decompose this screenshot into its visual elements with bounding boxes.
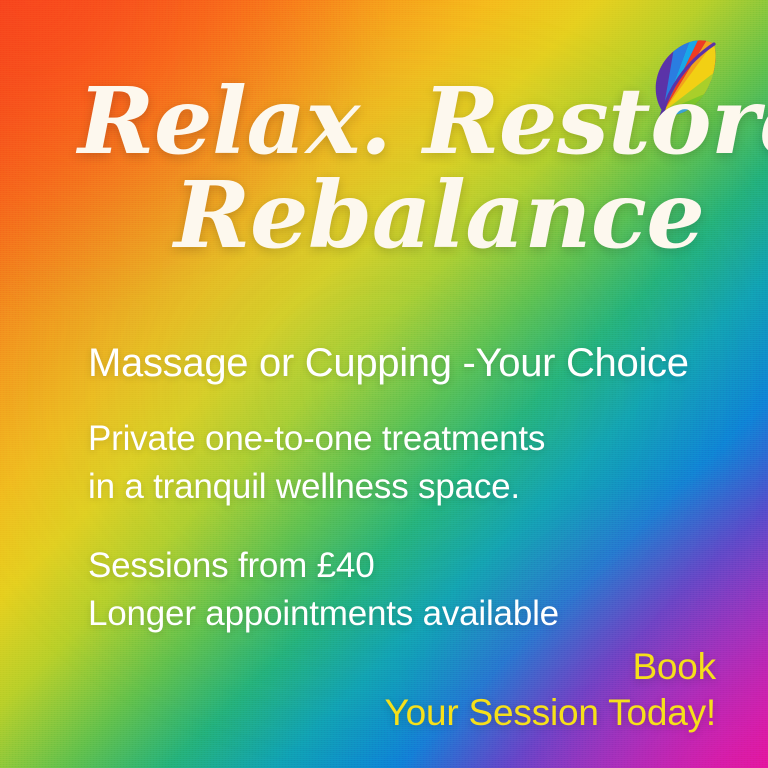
body-line-1: Private one-to-one treatments: [88, 415, 545, 463]
call-to-action[interactable]: Book Your Session Today!: [216, 644, 716, 737]
subheading: Massage or Cupping -Your Choice: [88, 341, 689, 386]
pricing-info: Sessions from £40 Longer appointments av…: [88, 542, 559, 637]
headline-line-2: Rebalance: [78, 170, 698, 260]
pricing-line-2: Longer appointments available: [88, 590, 559, 638]
promotional-poster: Relax. Restore. Rebalance Massage or Cup…: [0, 0, 768, 768]
cta-line-1: Book: [216, 644, 716, 690]
cta-line-2: Your Session Today!: [216, 690, 716, 736]
body-line-2: in a tranquil wellness space.: [88, 463, 545, 511]
body-copy: Private one-to-one treatments in a tranq…: [88, 415, 545, 510]
page-title: Relax. Restore. Rebalance: [78, 76, 698, 260]
headline-line-1: Relax. Restore.: [78, 76, 698, 166]
pricing-line-1: Sessions from £40: [88, 542, 559, 590]
